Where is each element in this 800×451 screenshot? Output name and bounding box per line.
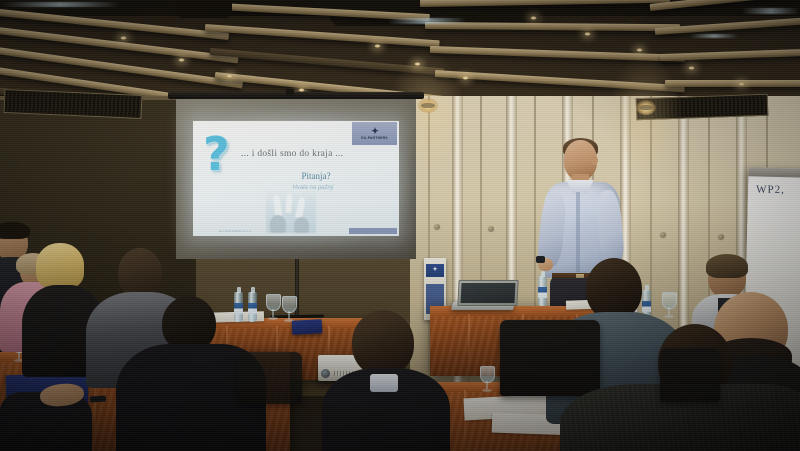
projector-lens [321,369,330,378]
projection-screen: ✦ EU-PARTNERS ? ... i došli smo do kraja… [176,92,416,267]
ceiling-downlight [636,48,643,52]
ceiling-downlight [178,58,185,62]
eu-partners-emblem-icon: ✦ [371,127,378,136]
flipchart-written-text: WP2, [756,184,785,196]
chair-mid-right [660,348,720,402]
ceiling-downlight [120,36,127,40]
water-bottle [234,292,243,322]
wall-knob [660,232,666,237]
water-glass [480,366,493,392]
wall-knob [718,234,724,239]
ceiling-downlight [374,44,381,48]
slide-headline: ... i došli smo do kraja ... [241,149,391,159]
ceiling-downlight [584,32,591,36]
blue-folder-center [292,319,323,335]
presenter-ear [591,156,598,165]
projected-slide: ✦ EU-PARTNERS ? ... i došli smo do kraja… [193,121,399,236]
ceiling-downlight [414,62,421,66]
screen-case [168,92,424,99]
wall-knob [488,226,494,231]
slide-subtitle: Pitanja? [241,171,391,181]
ceiling-downlight [462,76,469,80]
conference-room-photo: ✦ EU-PARTNERS ? ... i došli smo do kraja… [0,0,800,451]
ceiling-downlight [688,66,695,70]
laptop-lid [457,280,518,306]
ceiling-downlight [226,74,233,78]
ceiling-downlight [530,16,537,20]
water-glass [266,294,279,320]
slide-logo: ✦ EU-PARTNERS [352,122,397,145]
slide-footer-bar [349,228,397,234]
water-glass [662,292,675,318]
slide-photo [266,191,316,233]
screen-surface: ✦ EU-PARTNERS ? ... i došli smo do kraja… [176,99,416,259]
ceiling-projector-mount [176,0,232,18]
water-bottle [248,292,257,322]
slide-footer-text: EU-PARTNERS d.o.o. [219,229,329,233]
ceiling-downlight [738,82,745,86]
presenter-remote-clicker [536,256,545,263]
chair-center [238,352,302,404]
wall-knob [434,224,440,229]
wall-sconce-left [418,98,438,113]
wall-sconce-right [636,100,656,115]
question-mark-icon: ? [203,134,239,174]
eu-partners-logo-text: EU-PARTNERS [361,136,387,141]
presenter-shirt-placket [576,192,580,272]
standee-emblem-icon: ✦ [426,264,444,277]
mobile-phone [90,395,106,402]
water-bottle [538,276,547,306]
flipchart-clamp [748,167,800,178]
chair-center-right [500,320,600,396]
water-glass [282,296,295,322]
